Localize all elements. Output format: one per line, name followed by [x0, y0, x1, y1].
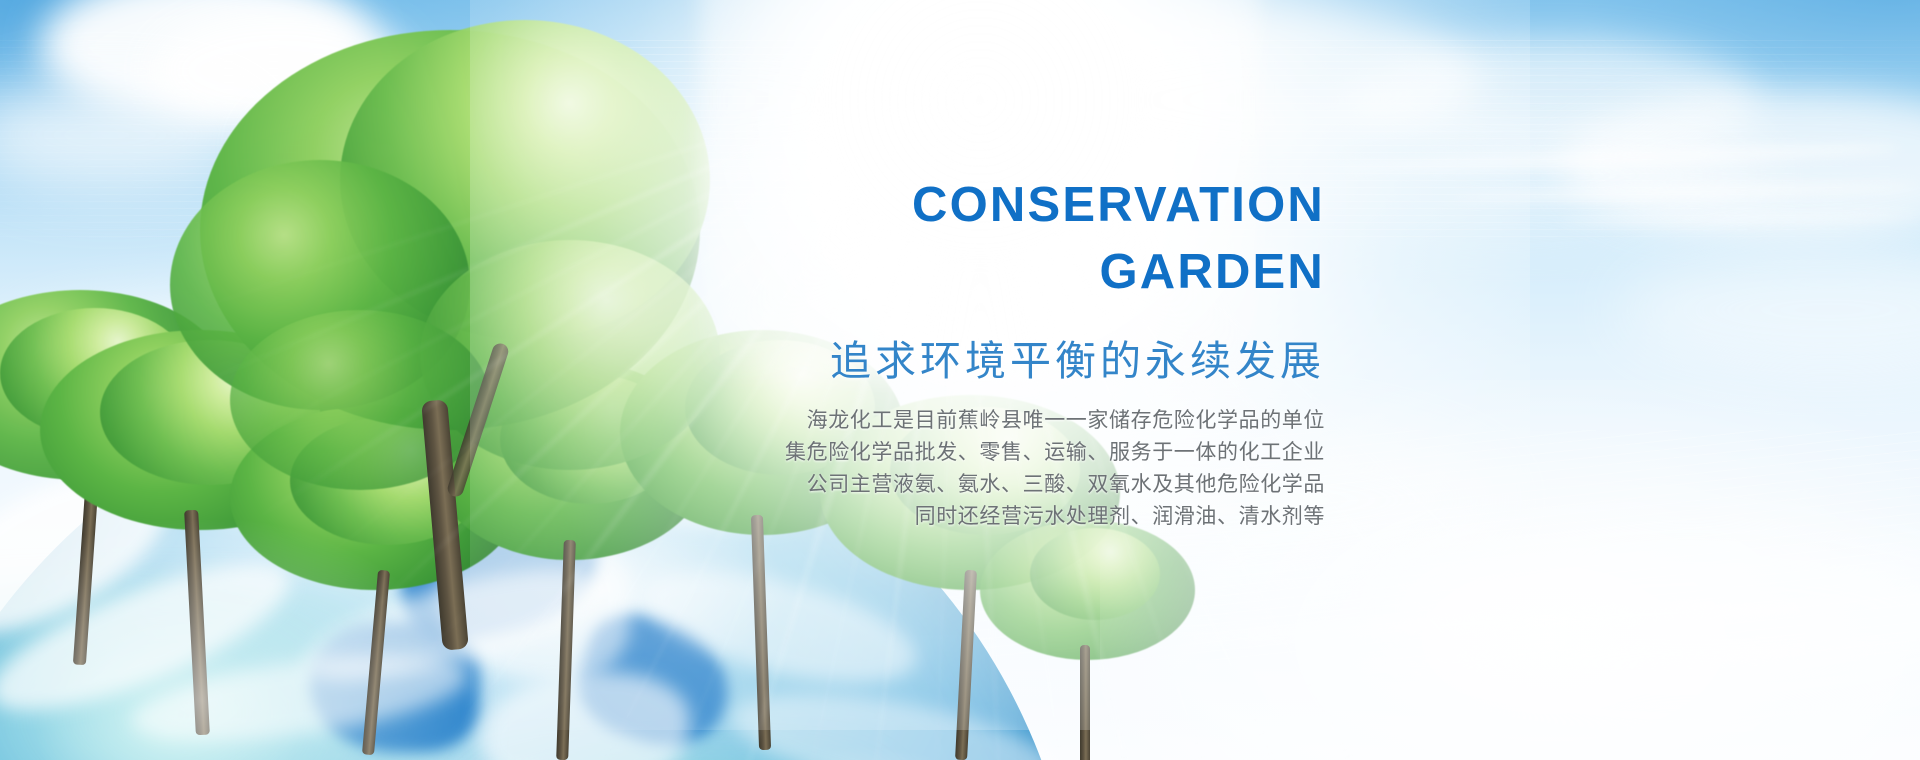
banner-text-block: CONSERVATION GARDEN 追求环境平衡的永续发展 海龙化工是目前蕉…	[625, 172, 1325, 533]
description-line: 同时还经营污水处理剂、润滑油、清水剂等	[625, 501, 1325, 533]
hero-banner: CONSERVATION GARDEN 追求环境平衡的永续发展 海龙化工是目前蕉…	[0, 0, 1920, 760]
headline-line-1: CONSERVATION	[912, 178, 1325, 232]
banner-subtitle: 追求环境平衡的永续发展	[625, 327, 1325, 387]
banner-description: 海龙化工是目前蕉岭县唯一一家储存危险化学品的单位 集危险化学品批发、零售、运输、…	[625, 405, 1325, 533]
headline-line-2: GARDEN	[625, 239, 1325, 306]
banner-headline: CONSERVATION GARDEN	[625, 172, 1325, 305]
description-line: 公司主营液氨、氨水、三酸、双氧水及其他危险化学品	[625, 469, 1325, 501]
description-line: 集危险化学品批发、零售、运输、服务于一体的化工企业	[625, 437, 1325, 469]
description-line: 海龙化工是目前蕉岭县唯一一家储存危险化学品的单位	[625, 405, 1325, 437]
